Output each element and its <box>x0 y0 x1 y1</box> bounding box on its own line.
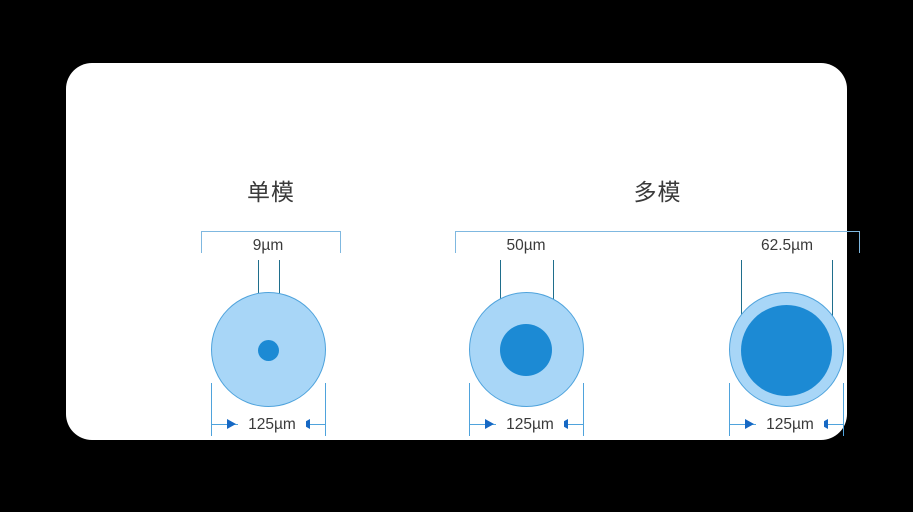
core-label-multi-mode-50um: 50µm <box>466 238 586 254</box>
dim-arrow-right-62-5um <box>745 419 754 429</box>
group-title-multi-mode: 多模 <box>455 181 860 204</box>
dim-extension-right-9um <box>325 383 326 436</box>
core-circle-single-mode-9um <box>258 340 279 361</box>
dim-extension-left-62-5um <box>729 383 730 436</box>
diagram-card: 单模 9µm 125µm 多模 50µm 125µm 62.5µm <box>66 63 847 440</box>
cladding-label-multi-mode-50um: 125µm <box>496 417 564 433</box>
core-circle-multi-mode-50um <box>500 324 552 376</box>
diagram-canvas: 单模 9µm 125µm 多模 50µm 125µm 62.5µm <box>0 0 913 512</box>
group-title-single-mode: 单模 <box>201 181 341 204</box>
cladding-label-single-mode-9um: 125µm <box>238 417 306 433</box>
core-label-single-mode-9um: 9µm <box>208 238 328 254</box>
core-label-multi-mode-62-5um: 62.5µm <box>727 238 847 254</box>
dim-extension-right-62-5um <box>843 383 844 436</box>
dim-arrow-right-50um <box>485 419 494 429</box>
dim-extension-left-50um <box>469 383 470 436</box>
cladding-label-multi-mode-62-5um: 125µm <box>756 417 824 433</box>
dim-extension-right-50um <box>583 383 584 436</box>
dim-extension-left-9um <box>211 383 212 436</box>
core-circle-multi-mode-62-5um <box>741 305 832 396</box>
dim-arrow-right-9um <box>227 419 236 429</box>
